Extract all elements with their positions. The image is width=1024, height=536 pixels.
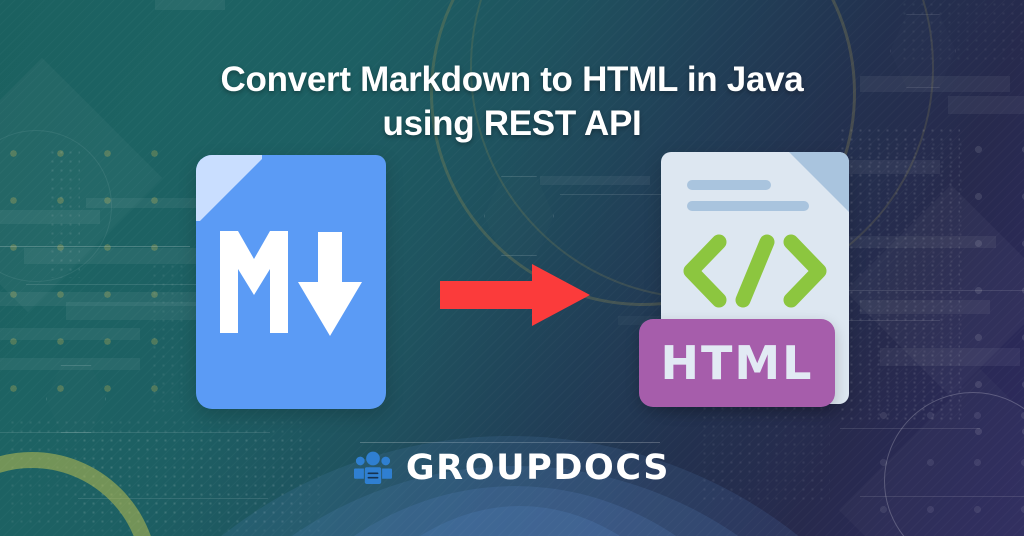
dot-grid-small-left-2 [150,262,188,412]
page-title: Convert Markdown to HTML in Java using R… [0,58,1024,146]
doc-line [687,201,809,211]
deco-line-4 [78,498,268,499]
title-line-2: using REST API [0,102,1024,146]
dot-grid-big-right [955,126,1024,456]
title-line-1: Convert Markdown to HTML in Java [221,60,804,99]
banner-image: Convert Markdown to HTML in Java using R… [0,0,1024,536]
markdown-file-icon [196,155,386,409]
groupdocs-mark-icon [354,449,392,487]
deco-bar-9 [155,0,225,10]
groupdocs-logo: GROUPDOCS [0,448,1024,488]
deco-bar-12 [846,236,996,248]
deco-line-9 [840,428,980,429]
right-arrow-icon [440,264,590,326]
deco-bar-1 [0,210,100,224]
deco-bar-7 [0,358,140,370]
markdown-down-arrow-icon [298,232,362,336]
deco-line-7 [840,290,1024,291]
wave-3 [190,486,840,536]
html-doc-text-lines-top [687,180,809,222]
dot-grid-gold-left [0,130,190,430]
deco-bar-13 [860,300,990,314]
deco-bar-14 [880,348,1020,366]
dot-grid-right-2 [866,140,966,420]
wave-4 [270,506,770,536]
dot-grid-right [838,126,960,426]
deco-bar-5 [0,328,140,340]
deco-line-10 [360,442,660,443]
hexagon-left [46,365,106,433]
hexagon-top-center [484,176,554,256]
code-brackets-icon [679,234,831,308]
markdown-glyph [196,231,386,336]
markdown-corner-fold-icon [196,155,262,221]
markdown-letter-m-icon [220,231,288,333]
dot-grid-small-left [48,148,80,278]
ring-left [0,130,112,282]
deco-bar-16 [540,176,650,185]
deco-line-1 [0,246,190,247]
doc-line [687,180,771,190]
groupdocs-wordmark: GROUPDOCS [406,448,670,488]
dot-grid-top-right [900,0,1024,64]
html-badge-label: HTML [661,336,814,390]
diag-band-right [845,185,1024,397]
deco-bar-4 [0,292,200,306]
html-format-badge: HTML [639,319,835,407]
deco-line-3 [0,432,270,433]
deco-line-8 [860,496,1024,497]
